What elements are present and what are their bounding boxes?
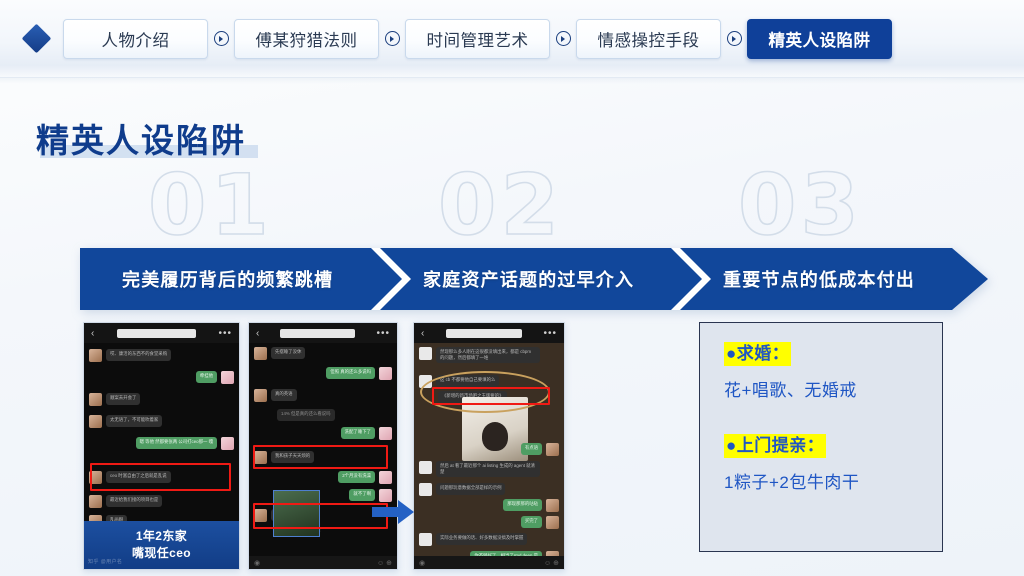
chat-screenshot-2[interactable]: ‹ ••• 先摆睡了没休 但照 真的还么多说吗 真的英语 14% 但是真的还么看…	[248, 322, 398, 570]
nav-tab-jingyingrenshe[interactable]: 精英人设陷阱	[747, 19, 892, 59]
callout-heading-1: ●求婚：	[724, 345, 942, 362]
screenshot-3-header: ‹ •••	[414, 323, 564, 343]
chat-message: 然现那么多人刚在这很都没填出来，都是 cbpm 的问题，然后都填了一堆	[419, 347, 561, 363]
more-icon: •••	[376, 328, 390, 339]
nav-tab-renwujieshao[interactable]: 人物介绍	[63, 19, 208, 59]
avatar	[379, 367, 392, 380]
step-label-3: 重要节点的低成本付出	[723, 248, 915, 310]
back-icon: ‹	[421, 328, 424, 339]
back-icon: ‹	[91, 328, 94, 339]
title-placeholder-bar	[446, 329, 522, 338]
voice-icon: ◉	[254, 559, 260, 567]
avatar	[254, 389, 267, 402]
watermark-number-02: 02	[438, 163, 563, 247]
red-annotation-box	[253, 445, 388, 469]
red-annotation-box	[253, 503, 388, 529]
callout-heading-1-text: 求婚：	[737, 344, 790, 363]
avatar	[419, 483, 432, 496]
message-bubble: 顺案去开会了	[106, 393, 140, 405]
message-bubble: 实际业务要做的话、好多数据没搞及时掌握	[436, 533, 527, 545]
avatar	[419, 347, 432, 360]
chevron-right-circle-icon	[721, 31, 747, 46]
step-label-1: 完美履历背后的频繁跳槽	[122, 248, 333, 310]
chat-message: 那现那那的咕哒	[417, 499, 559, 512]
chat-screenshot-1[interactable]: ‹ ••• 哎、康活的东西不的食堂采购 牵挂他 顺案去开会了 太无语了，不可能吹…	[83, 322, 240, 570]
chat-message: 哎、康活的东西不的食堂采购	[89, 349, 234, 362]
avatar	[89, 415, 102, 428]
avatar	[89, 393, 102, 406]
watermark-number-03: 03	[738, 163, 863, 247]
screenshot-2-header: ‹ •••	[249, 323, 397, 343]
message-bubble: 有点语	[521, 443, 542, 455]
avatar	[419, 461, 432, 474]
message-bubble: 太无语了，不可能吹着家	[106, 415, 162, 427]
avatar	[89, 495, 102, 508]
chevron-right-circle-icon	[208, 31, 234, 46]
chat-message: 牵挂他	[89, 371, 234, 384]
diamond-icon	[22, 24, 52, 54]
chat-message: 有点语	[417, 443, 559, 456]
arrow-right-icon	[372, 500, 414, 529]
emoji-icon: ☺ ⊕	[544, 559, 559, 567]
slide-root: 人物介绍 傅某狩猎法则 时间管理艺术 情感操控手段 精英人设陷阱 Anker I…	[0, 0, 1024, 576]
chat-screenshot-3[interactable]: ‹ ••• 然现那么多人刚在这很都没填出来，都是 cbpm 的问题，然后都填了一…	[413, 322, 565, 570]
message-bubble: 先摆睡了没休	[271, 347, 305, 359]
message-bubble: 真的英语	[271, 389, 297, 401]
avatar	[221, 437, 234, 450]
step-chevron-band: 完美履历背后的频繁跳槽 家庭资产话题的过早介入 重要节点的低成本付出	[80, 248, 988, 310]
watermark-number-01: 01	[148, 163, 273, 247]
red-annotation-box	[90, 463, 231, 491]
chat-message: 嗯 等他 然都要张两 公司打ceo那一 嘎	[89, 437, 234, 450]
page-title: 精英人设陷阱	[36, 114, 246, 162]
chevron-right-circle-icon	[550, 31, 576, 46]
message-bubble: 嗯 等他 然都要张两 公司打ceo那一 嘎	[136, 437, 217, 449]
chat-message: 买完了	[417, 516, 559, 529]
message-bubble: 牵挂他	[196, 371, 217, 383]
chat-message: 但照 真的还么多说吗	[252, 367, 392, 380]
chat-message: 真的英语	[254, 389, 394, 402]
message-bubble: 2个月没有洗澡	[338, 471, 375, 483]
emoji-icon: ☺ ⊕	[377, 559, 392, 567]
chevron-right-circle-icon	[379, 31, 405, 46]
caption-line-2: 嘴现任ceo	[132, 545, 191, 562]
avatar	[221, 371, 234, 384]
avatar	[419, 533, 432, 546]
message-bubble: 然现那么多人刚在这很都没填出来，都是 cbpm 的问题，然后都填了一堆	[436, 347, 540, 363]
message-bubble: 哎、康活的东西不的食堂采购	[106, 349, 171, 361]
screenshot-2-input-bar: ◉ ☺ ⊕	[249, 556, 397, 569]
back-icon: ‹	[256, 328, 259, 339]
nav-tab-shoulie[interactable]: 傅某狩猎法则	[234, 19, 379, 59]
message-bubble: 那现那那的咕哒	[503, 499, 542, 511]
top-navigation-bar: 人物介绍 傅某狩猎法则 时间管理艺术 情感操控手段 精英人设陷阱	[0, 0, 1024, 78]
step-label-2: 家庭资产话题的过早介入	[423, 248, 634, 310]
callout-box: ●求婚： 花+唱歌、无婚戒 ●上门提亲： 1粽子+2包牛肉干	[699, 322, 943, 552]
message-bubble: 但照 真的还么多说吗	[326, 367, 375, 379]
message-bubble: 然后 at 看了最近那个 ai listing 生成的 agent 就清楚	[436, 461, 540, 477]
message-bubble: 买完了	[521, 516, 542, 528]
caption-watermark: 知乎 @用户名	[88, 559, 122, 566]
title-placeholder-bar	[117, 329, 196, 338]
avatar	[254, 347, 267, 360]
avatar	[379, 427, 392, 440]
chat-message: 问题那玩意数据全部是样的示例	[419, 483, 561, 496]
nav-tab-qingganzhangkong[interactable]: 情感操控手段	[576, 19, 721, 59]
avatar	[379, 471, 392, 484]
nav-tab-list: 人物介绍 傅某狩猎法则 时间管理艺术 情感操控手段 精英人设陷阱	[63, 19, 892, 59]
screenshot-3-input-bar: ◉ ☺ ⊕	[414, 556, 564, 569]
more-icon: •••	[218, 328, 232, 339]
callout-answer-1: 花+唱歌、无婚戒	[724, 376, 942, 401]
nav-tab-shijianguanli[interactable]: 时间管理艺术	[405, 19, 550, 59]
caption-line-1: 1年2东家	[136, 528, 187, 545]
screenshot-1-header: ‹ •••	[84, 323, 239, 343]
red-annotation-box	[432, 387, 550, 405]
callout-heading-2-text: 上门提亲：	[737, 436, 825, 455]
chat-message: 先摆睡了没休	[254, 347, 394, 360]
chat-message: 实际业务要做的话、好多数据没搞及时掌握	[419, 533, 561, 546]
chat-message: 顺案去开会了	[89, 393, 234, 406]
bullet-icon: ●	[726, 344, 737, 363]
chat-message: 太无语了，不可能吹着家	[89, 415, 234, 428]
message-bubble: 洗配了睡下了	[341, 427, 375, 439]
avatar	[546, 499, 559, 512]
message-bubble: 14% 但是真的还么看说吗	[277, 409, 335, 421]
message-bubble: 问题那玩意数据全部是样的示例	[436, 483, 505, 495]
title-placeholder-bar	[280, 329, 355, 338]
avatar	[546, 443, 559, 456]
more-icon: •••	[543, 328, 557, 339]
screenshot-1-caption: 1年2东家 嘴现任ceo 知乎 @用户名	[84, 521, 239, 569]
chat-message: 2个月没有洗澡	[252, 471, 392, 484]
avatar	[89, 349, 102, 362]
chat-message-quote: 14% 但是真的还么看说吗	[273, 409, 393, 421]
chat-message: 最近给我们接的项目也是	[89, 495, 234, 508]
callout-answer-2: 1粽子+2包牛肉干	[724, 468, 942, 493]
chat-message: 洗配了睡下了	[252, 427, 392, 440]
bullet-icon: ●	[726, 436, 737, 455]
chat-message: 然后 at 看了最近那个 ai listing 生成的 agent 就清楚	[419, 461, 561, 477]
message-bubble: 最近给我们接的项目也是	[106, 495, 162, 507]
avatar	[546, 516, 559, 529]
voice-icon: ◉	[419, 559, 425, 567]
callout-heading-2: ●上门提亲：	[724, 437, 942, 454]
